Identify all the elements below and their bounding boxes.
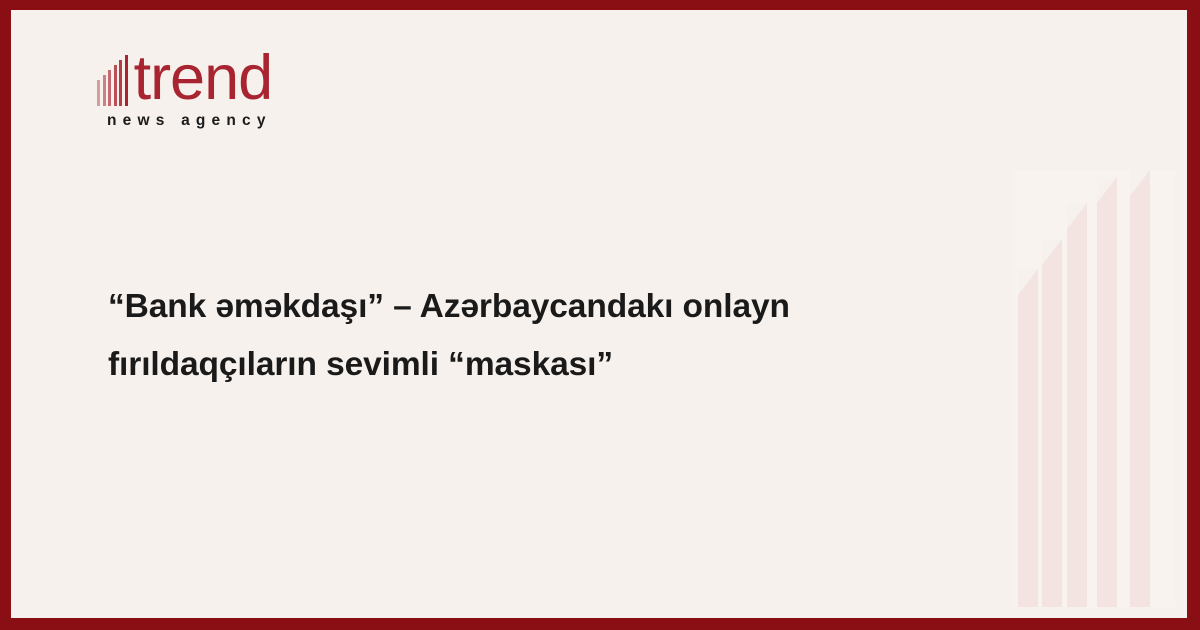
logo-tagline: news agency bbox=[107, 112, 272, 130]
logo-bar bbox=[125, 55, 128, 106]
watermark-plate bbox=[1012, 170, 1175, 607]
watermark-bar bbox=[1130, 170, 1150, 607]
watermark-bar bbox=[1097, 177, 1117, 607]
logo-bar bbox=[119, 60, 122, 106]
watermark-bar-slant bbox=[1042, 239, 1062, 265]
article-headline: “Bank əməkdaşı” – Azərbaycandakı onlayn … bbox=[108, 278, 908, 394]
logo-wordmark: trend bbox=[134, 50, 273, 106]
watermark-bar bbox=[1067, 203, 1087, 607]
logo-bar bbox=[103, 75, 106, 106]
card-canvas: trend news agency “Bank əməkdaşı” – Azər… bbox=[11, 10, 1187, 618]
trend-logo[interactable]: trend news agency bbox=[97, 48, 357, 140]
logo-bar bbox=[108, 70, 111, 106]
ascending-bars-watermark bbox=[1012, 170, 1175, 607]
watermark-bar-slant bbox=[1067, 203, 1087, 229]
watermark-bar-slant bbox=[1097, 177, 1117, 203]
logo-bar bbox=[114, 65, 117, 106]
ascending-bars-icon bbox=[97, 54, 131, 106]
watermark-bar bbox=[1042, 239, 1062, 607]
watermark-bar-slant bbox=[1018, 269, 1038, 295]
logo-mark: trend bbox=[97, 48, 272, 106]
watermark-bar bbox=[1018, 269, 1038, 607]
watermark-bar-slant bbox=[1130, 170, 1150, 196]
logo-bar bbox=[97, 80, 100, 106]
share-card: trend news agency “Bank əməkdaşı” – Azər… bbox=[0, 0, 1200, 630]
